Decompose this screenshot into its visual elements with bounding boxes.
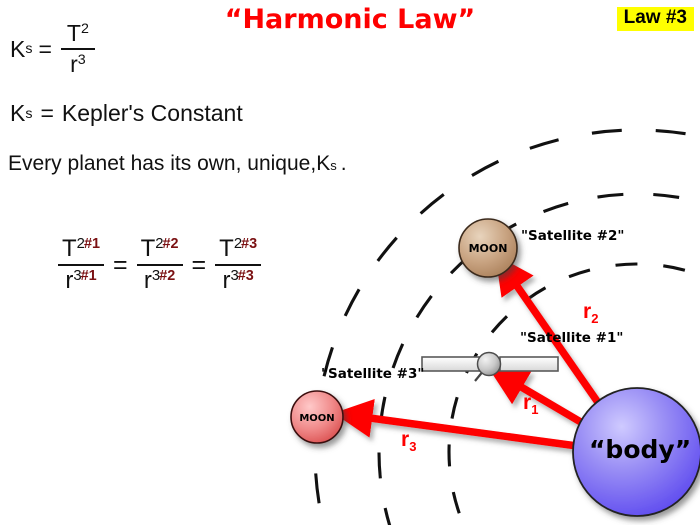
satellite-3-text-label: "Satellite #3" [321,366,424,382]
satellite-2-text-label: "Satellite #2" [521,228,624,244]
r1-base: r [523,391,531,414]
r3-base: r [401,428,409,451]
r2-base: r [583,300,591,323]
r1-subscript: 1 [531,402,538,417]
radius-label-r2: r2 [583,300,598,326]
radius-label-r3: r3 [401,428,416,454]
slide-canvas: “Harmonic Law” Law #3 Ks = T2 r3 Ks = Ke… [0,0,700,525]
solar-panel-right [500,357,558,371]
r3-subscript: 3 [409,439,416,454]
moon-label-3: MOON [299,413,334,424]
solar-panel-left [422,357,480,371]
satellite-3-moon: MOON [291,391,343,443]
satellite-1-icon [422,353,558,382]
satellite-1-body [478,353,501,376]
r2-subscript: 2 [591,311,598,326]
satellite-1-text-label: "Satellite #1" [520,330,623,346]
radius-label-r1: r1 [523,391,538,417]
moon-label-2: MOON [469,242,508,255]
central-body-text-label: “body” [589,435,691,464]
satellite-2-moon: MOON [459,219,517,277]
